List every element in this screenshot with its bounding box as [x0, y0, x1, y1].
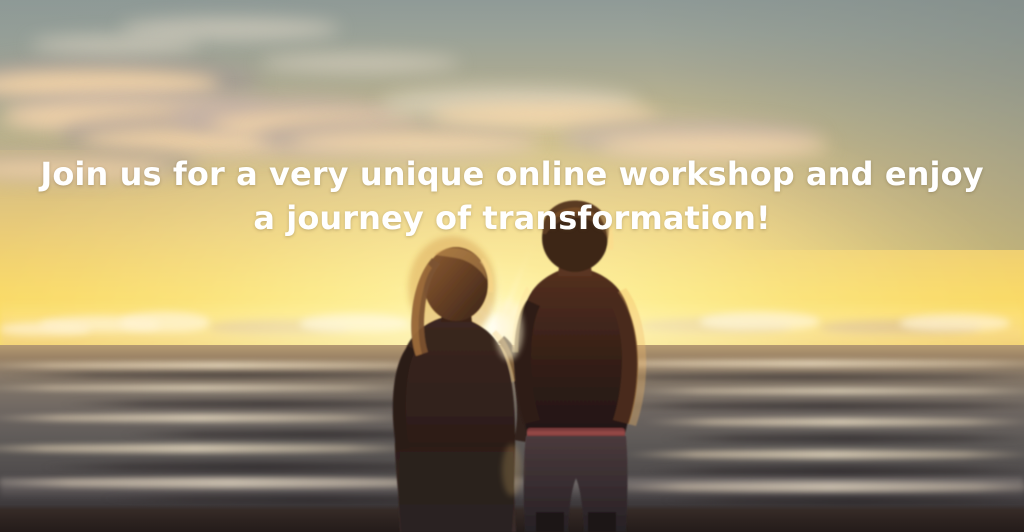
page-title: Join us for a very unique online worksho…	[0, 108, 1024, 284]
headline-line-1: Join us for a very unique online worksho…	[40, 155, 983, 193]
banner-image: Join us for a very unique online worksho…	[0, 0, 1024, 532]
headline-line-2: a journey of transformation!	[0, 196, 1024, 240]
